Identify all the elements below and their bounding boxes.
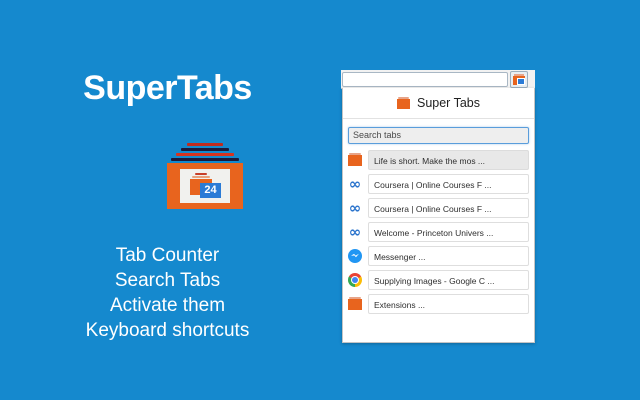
logo-stack-line <box>181 148 229 151</box>
page-title: SuperTabs <box>0 68 335 108</box>
icon-count-badge <box>517 78 525 85</box>
supertabs-logo-icon: 24 <box>167 143 243 209</box>
tab-list: Life is short. Make the mos ... ∞ Course… <box>343 148 534 321</box>
chrome-icon <box>348 273 362 287</box>
address-bar[interactable] <box>342 72 508 87</box>
feature-item: Keyboard shortcuts <box>0 318 335 343</box>
list-item[interactable]: Messenger ... <box>348 245 529 267</box>
messenger-bolt <box>351 253 359 259</box>
extension-toolbar-button[interactable] <box>510 71 528 88</box>
popup-header: Super Tabs <box>343 88 534 119</box>
logo-screen: 24 <box>180 169 230 203</box>
feature-item: Tab Counter <box>0 243 335 268</box>
tab-title: Coursera | Online Courses F ... <box>368 198 529 218</box>
list-item[interactable]: ∞ Welcome - Princeton Univers ... <box>348 221 529 243</box>
list-item[interactable]: Supplying Images - Google C ... <box>348 269 529 291</box>
supertabs-extension-icon <box>513 74 525 85</box>
tab-title: Messenger ... <box>368 246 529 266</box>
messenger-icon <box>348 249 362 263</box>
list-item[interactable]: Life is short. Make the mos ... <box>348 149 529 171</box>
list-item[interactable]: ∞ Coursera | Online Courses F ... <box>348 173 529 195</box>
logo-inner-line <box>192 176 210 178</box>
search-input[interactable] <box>348 127 529 144</box>
tab-counter-badge: 24 <box>200 183 221 198</box>
browser-screenshot: Super Tabs Life is short. Make the mos .… <box>341 70 535 343</box>
logo-inner-line <box>195 173 207 175</box>
coursera-icon: ∞ <box>348 177 362 191</box>
list-item[interactable]: ∞ Coursera | Online Courses F ... <box>348 197 529 219</box>
tab-title: Extensions ... <box>368 294 529 314</box>
list-item[interactable]: Extensions ... <box>348 293 529 315</box>
tab-title: Coursera | Online Courses F ... <box>368 174 529 194</box>
coursera-icon: ∞ <box>348 201 362 215</box>
logo-stack-line <box>171 158 239 161</box>
feature-item: Search Tabs <box>0 268 335 293</box>
popup-title: Super Tabs <box>417 96 480 110</box>
coursera-icon: ∞ <box>348 225 362 239</box>
icon-body <box>397 99 410 109</box>
icon-body <box>348 299 362 310</box>
promo-panel: SuperTabs 24 Tab Counter Search Tabs Act… <box>0 0 335 400</box>
search-row <box>343 119 534 148</box>
tab-title: Life is short. Make the mos ... <box>368 150 529 170</box>
icon-body <box>348 155 362 166</box>
orange-box-icon <box>348 153 362 167</box>
feature-list: Tab Counter Search Tabs Activate them Ke… <box>0 243 335 343</box>
extension-popup: Super Tabs Life is short. Make the mos .… <box>342 88 535 343</box>
orange-box-icon <box>348 297 362 311</box>
logo-stack-line <box>187 143 223 146</box>
logo-body: 24 <box>167 163 243 209</box>
tab-title: Welcome - Princeton Univers ... <box>368 222 529 242</box>
logo-stack-line <box>176 153 234 156</box>
browser-toolbar <box>341 70 535 89</box>
feature-item: Activate them <box>0 293 335 318</box>
orange-box-icon <box>397 97 410 109</box>
tab-title: Supplying Images - Google C ... <box>368 270 529 290</box>
